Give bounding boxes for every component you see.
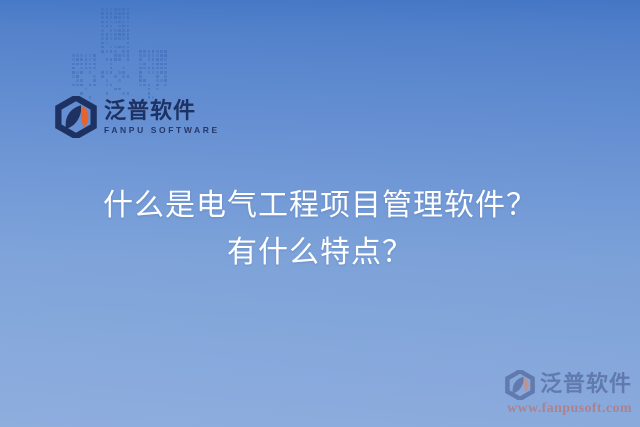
- brand-name-en: FANPU SOFTWARE: [104, 126, 220, 135]
- page-title-line-1: 什么是电气工程项目管理软件？: [0, 182, 640, 229]
- brand-name-cn: 泛普软件: [104, 100, 220, 123]
- brand-logo: 泛普软件 FANPU SOFTWARE: [55, 96, 220, 138]
- page-title: 什么是电气工程项目管理软件？ 有什么特点？: [0, 182, 640, 276]
- brand-logo-text: 泛普软件 FANPU SOFTWARE: [104, 100, 220, 135]
- fanpu-hexagon-watermark-icon: [505, 370, 535, 400]
- site-watermark: 泛普软件 www.fanpusoft.com: [505, 370, 632, 417]
- watermark-logo-row: 泛普软件: [505, 370, 632, 400]
- dot-matrix-cityscape-decoration: [72, 8, 182, 100]
- fanpu-hexagon-logo-icon: [55, 96, 97, 138]
- poster-canvas: 泛普软件 FANPU SOFTWARE 什么是电气工程项目管理软件？ 有什么特点…: [0, 0, 640, 427]
- page-title-line-2: 有什么特点？: [0, 229, 640, 276]
- watermark-brand-name: 泛普软件: [540, 373, 632, 396]
- watermark-url: www.fanpusoft.com: [505, 401, 632, 417]
